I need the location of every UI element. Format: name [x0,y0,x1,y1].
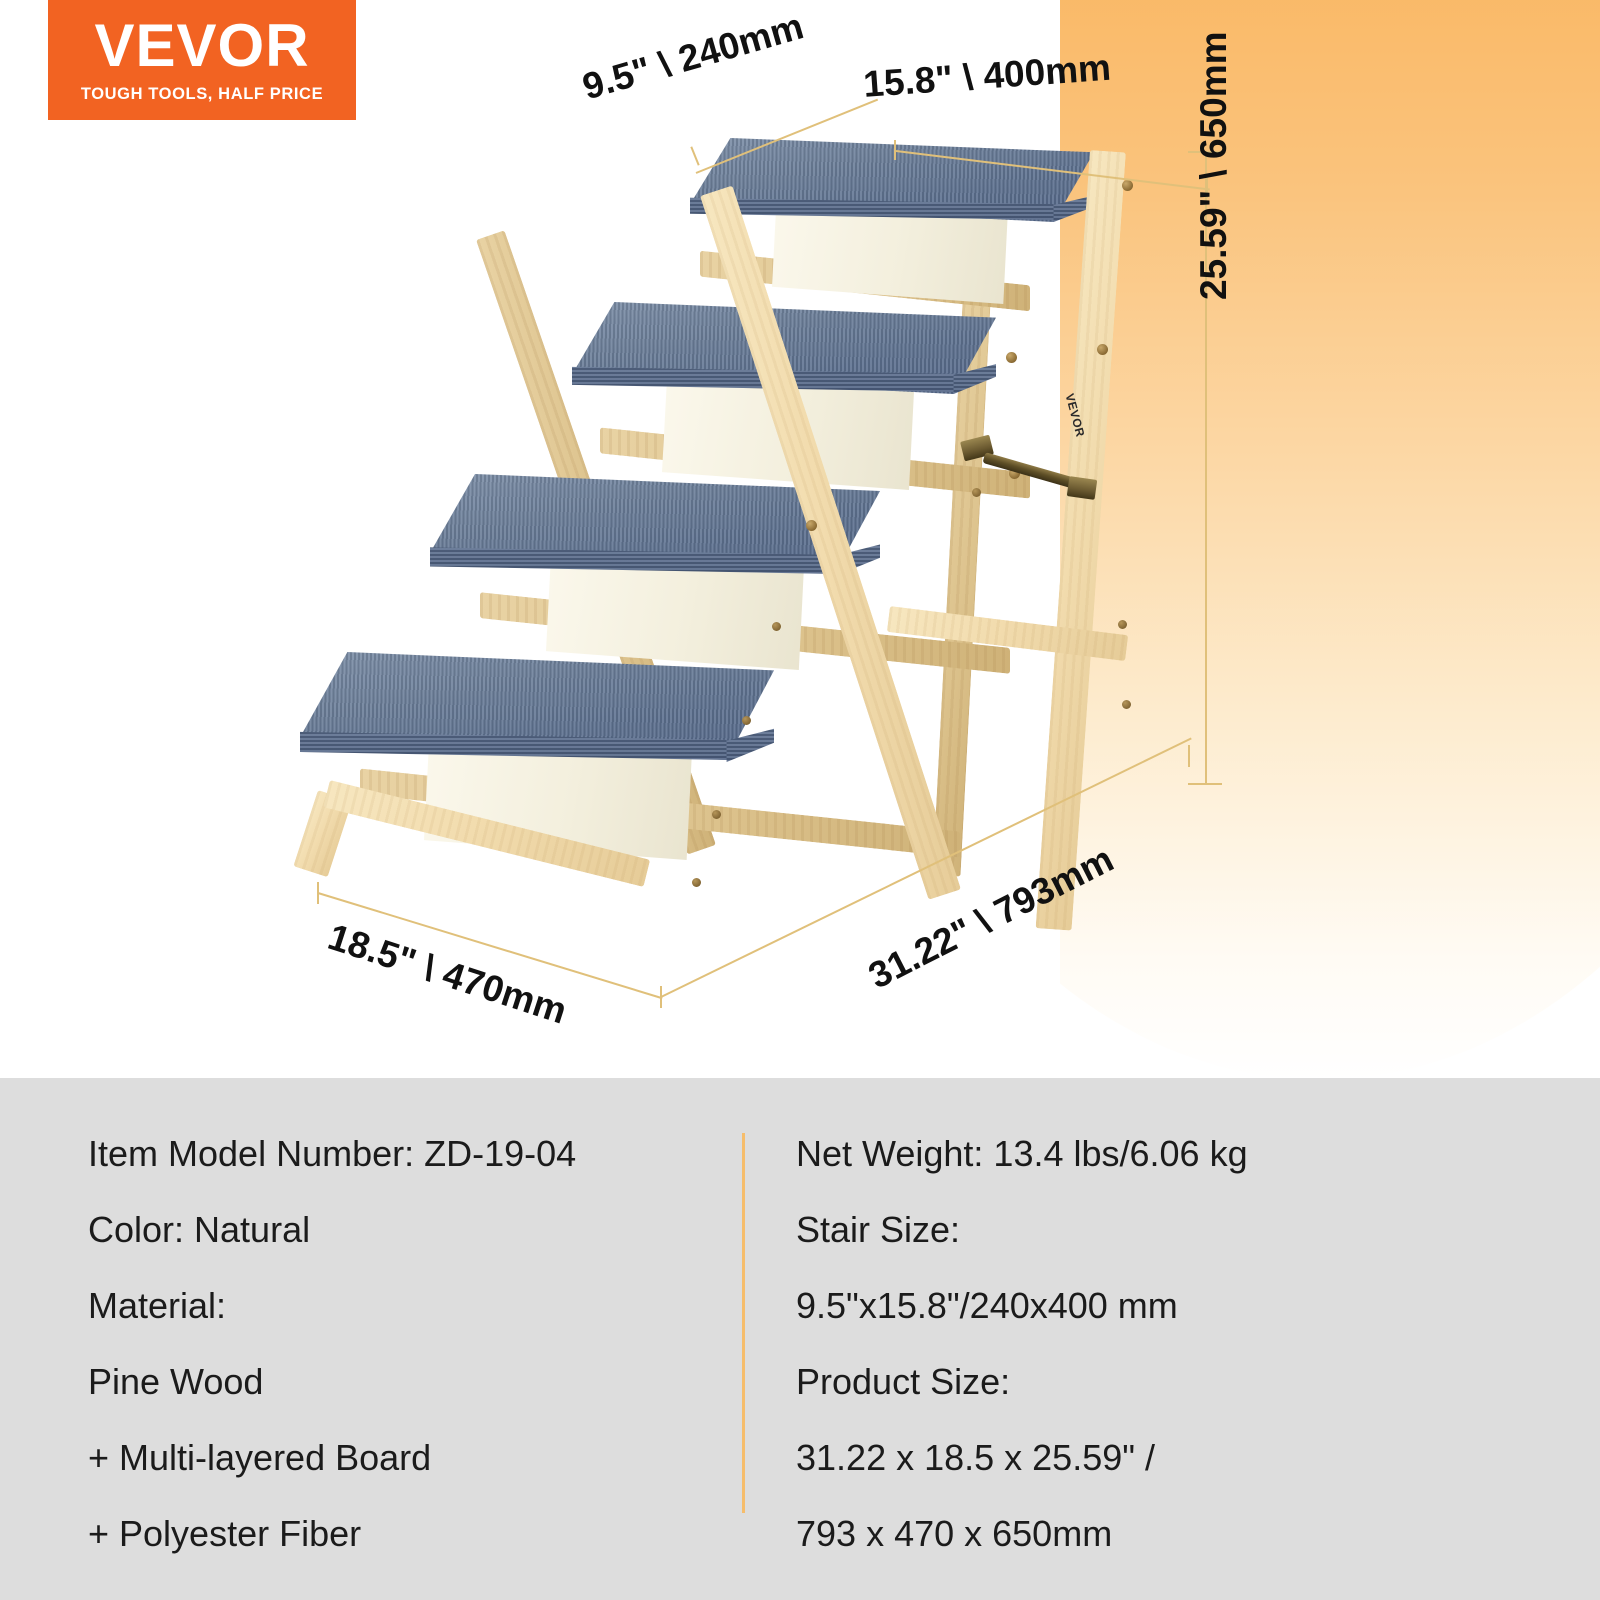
rear-leg-screw-2 [1097,344,1108,355]
spec-item: Stair Size: [796,1212,1496,1248]
dim-tick-470-a [317,882,319,904]
spec-item: 793 x 470 x 650mm [796,1516,1496,1552]
rear-leg-hole-1 [972,488,981,497]
rear-leg-screw-3 [1006,352,1017,363]
spec-column-divider [742,1133,745,1513]
stringer-screw-1 [806,520,817,531]
infographic-page: VEVOR TOUGH TOOLS, HALF PRICE [0,0,1600,1600]
rear-leg-right [1036,150,1126,931]
spec-item: 9.5"x15.8"/240x400 mm [796,1288,1496,1324]
spec-item: 31.22 x 18.5 x 25.59" / [796,1440,1496,1476]
dim-tick-793-b [1188,745,1190,767]
spec-item: Item Model Number: ZD-19-04 [88,1136,708,1172]
rear-leg-hole-2 [1118,620,1127,629]
product-illustration: VEVOR [0,0,1600,1080]
spec-item: Pine Wood [88,1364,708,1400]
stringer-hole-2 [742,716,751,725]
stringer-hole-3 [712,810,721,819]
spec-item: Color: Natural [88,1212,708,1248]
spec-item: Product Size: [796,1364,1496,1400]
dimension-label-height: 25.59" \ 650mm [1193,31,1235,300]
spec-item: Material: [88,1288,708,1324]
rear-leg-screw-1 [1122,180,1133,191]
rear-leg-hole-3 [1122,700,1131,709]
spec-column-left: Item Model Number: ZD-19-04 Color: Natur… [88,1078,708,1552]
dim-tick-650-bot [1188,783,1222,785]
brace-plate-right [1067,476,1098,500]
spec-item: Net Weight: 13.4 lbs/6.06 kg [796,1136,1496,1172]
stringer-hole-4 [692,878,701,887]
spec-panel: Item Model Number: ZD-19-04 Color: Natur… [0,1078,1600,1600]
dim-tick-400-a [894,140,896,160]
spec-item: + Polyester Fiber [88,1516,708,1552]
stringer-hole-1 [772,622,781,631]
spec-column-right: Net Weight: 13.4 lbs/6.06 kg Stair Size:… [796,1078,1496,1552]
spec-item: + Multi-layered Board [88,1440,708,1476]
